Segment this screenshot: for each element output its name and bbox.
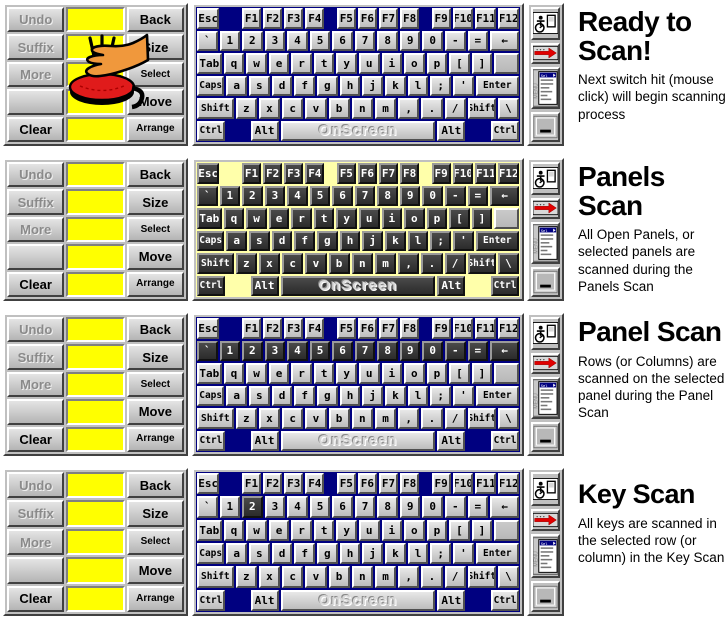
key-w[interactable]: w — [246, 520, 267, 541]
key-j[interactable]: j — [362, 543, 383, 564]
key-onscreen[interactable]: OnScreen — [281, 590, 436, 611]
control-button-undo[interactable]: Undo — [7, 317, 64, 342]
control-button-size[interactable]: Size — [127, 500, 184, 526]
key-l[interactable]: l — [408, 231, 429, 252]
key-f1[interactable]: F1 — [242, 473, 261, 494]
key-p[interactable]: p — [427, 520, 448, 541]
key-h[interactable]: h — [340, 76, 361, 97]
key-alt[interactable]: Alt — [437, 590, 465, 611]
control-button-move[interactable]: Move — [127, 89, 184, 114]
key-f7[interactable]: F7 — [379, 8, 398, 29]
key-f4[interactable]: F4 — [305, 318, 324, 339]
key-shift[interactable]: Shift — [197, 408, 234, 429]
key-backspace[interactable]: ← — [490, 186, 519, 207]
key-1[interactable]: 1 — [220, 31, 241, 52]
key-u[interactable]: u — [359, 53, 380, 74]
key-8[interactable]: 8 — [377, 341, 398, 362]
control-button-select[interactable]: Select — [127, 217, 184, 242]
control-button-size[interactable]: Size — [127, 34, 184, 59]
key-.[interactable]: . — [421, 408, 442, 429]
key-q[interactable]: q — [224, 363, 245, 384]
key-;[interactable]: ; — [430, 386, 451, 407]
key-a[interactable]: a — [226, 543, 247, 564]
key-`[interactable]: ` — [197, 31, 218, 52]
key-1[interactable]: 1 — [220, 186, 241, 207]
key-x[interactable]: x — [259, 253, 280, 274]
key--[interactable]: - — [445, 341, 466, 362]
key-s[interactable]: s — [249, 231, 270, 252]
key-l[interactable]: l — [408, 386, 429, 407]
key-f9[interactable]: F9 — [432, 318, 451, 339]
key-i[interactable]: i — [382, 208, 403, 229]
key-4[interactable]: 4 — [287, 341, 308, 362]
key-y[interactable]: y — [336, 208, 357, 229]
key-b[interactable]: b — [329, 566, 350, 587]
key-0[interactable]: 0 — [422, 186, 443, 207]
text-cell-2[interactable] — [66, 62, 124, 87]
key-esc[interactable]: Esc — [197, 163, 219, 184]
key-f8[interactable]: F8 — [400, 163, 419, 184]
key-j[interactable]: j — [362, 231, 383, 252]
key-k[interactable]: k — [385, 543, 406, 564]
key-ctrl[interactable]: Ctrl — [491, 276, 519, 297]
control-button-move[interactable]: Move — [127, 557, 184, 583]
key-shift[interactable]: Shift — [468, 408, 496, 429]
key-r[interactable]: r — [291, 520, 312, 541]
key-'[interactable]: ' — [453, 543, 474, 564]
key-f3[interactable]: F3 — [284, 473, 303, 494]
key-f2[interactable]: F2 — [263, 163, 282, 184]
key-t[interactable]: t — [314, 520, 335, 541]
key-.[interactable]: . — [421, 98, 442, 119]
key-'[interactable]: ' — [453, 231, 474, 252]
text-cell-1[interactable] — [66, 500, 124, 526]
key-f9[interactable]: F9 — [432, 473, 451, 494]
key-k[interactable]: k — [385, 231, 406, 252]
key-g[interactable]: g — [317, 76, 338, 97]
key-ctrl[interactable]: Ctrl — [491, 121, 519, 142]
key-9[interactable]: 9 — [400, 186, 421, 207]
key-e[interactable]: e — [269, 520, 290, 541]
key-f3[interactable]: F3 — [284, 8, 303, 29]
control-button-move[interactable]: Move — [127, 399, 184, 424]
key-,[interactable]: , — [398, 253, 419, 274]
key-f5[interactable]: F5 — [337, 8, 356, 29]
key-z[interactable]: z — [236, 253, 257, 274]
text-cell-0[interactable] — [66, 317, 124, 342]
control-button-more[interactable]: More — [7, 372, 64, 397]
icon-button-red-arrow[interactable] — [531, 509, 560, 531]
key-onscreen[interactable]: OnScreen — [281, 276, 436, 297]
icon-button-menu-list[interactable]: Sel MENU — [531, 534, 560, 578]
key-q[interactable]: q — [224, 208, 245, 229]
key-b[interactable]: b — [329, 408, 350, 429]
key-3[interactable]: 3 — [265, 186, 286, 207]
text-cell-2[interactable] — [66, 217, 124, 242]
key-'[interactable]: ' — [453, 386, 474, 407]
key-b[interactable]: b — [329, 253, 350, 274]
key-f8[interactable]: F8 — [400, 473, 419, 494]
icon-button-red-arrow[interactable] — [531, 198, 560, 219]
text-cell-3[interactable] — [66, 244, 124, 269]
key-blank[interactable] — [494, 363, 519, 384]
key-0[interactable]: 0 — [422, 341, 443, 362]
key-f1[interactable]: F1 — [242, 318, 261, 339]
key-ctrl[interactable]: Ctrl — [197, 276, 225, 297]
key-ctrl[interactable]: Ctrl — [197, 590, 225, 611]
key-backspace[interactable]: ← — [490, 31, 519, 52]
key-enter[interactable]: Enter — [476, 231, 519, 252]
key-shift[interactable]: Shift — [197, 253, 234, 274]
key-y[interactable]: y — [336, 520, 357, 541]
control-button-select[interactable]: Select — [127, 529, 184, 555]
icon-button-menu-list[interactable]: Sel MENU — [531, 222, 560, 264]
key-backslash[interactable]: \ — [498, 566, 519, 587]
control-button-back[interactable]: Back — [127, 7, 184, 32]
control-button-blank-3[interactable] — [7, 557, 64, 583]
control-button-undo[interactable]: Undo — [7, 472, 64, 498]
key-onscreen[interactable]: OnScreen — [281, 431, 436, 452]
text-cell-0[interactable] — [66, 7, 124, 32]
text-cell-3[interactable] — [66, 89, 124, 114]
key-x[interactable]: x — [259, 408, 280, 429]
key-v[interactable]: v — [305, 98, 326, 119]
key-g[interactable]: g — [317, 386, 338, 407]
key-a[interactable]: a — [226, 231, 247, 252]
key-l[interactable]: l — [408, 76, 429, 97]
key-/[interactable]: / — [445, 253, 466, 274]
key-tab[interactable]: Tab — [197, 208, 222, 229]
key-alt[interactable]: Alt — [251, 431, 279, 452]
key-9[interactable]: 9 — [400, 341, 421, 362]
control-button-arrange[interactable]: Arrange — [127, 272, 184, 297]
key-/[interactable]: / — [445, 98, 466, 119]
key-9[interactable]: 9 — [400, 31, 421, 52]
key-6[interactable]: 6 — [332, 496, 353, 517]
key-n[interactable]: n — [352, 98, 373, 119]
key-y[interactable]: y — [336, 53, 357, 74]
control-button-size[interactable]: Size — [127, 189, 184, 214]
key-f11[interactable]: F11 — [475, 318, 496, 339]
key-f12[interactable]: F12 — [498, 163, 519, 184]
key-5[interactable]: 5 — [310, 341, 331, 362]
key-f10[interactable]: F10 — [453, 473, 474, 494]
key-blank[interactable] — [494, 520, 519, 541]
key-c[interactable]: c — [282, 253, 303, 274]
icon-button-minimize[interactable] — [531, 112, 560, 142]
icon-button-minimize[interactable] — [531, 581, 560, 612]
key-0[interactable]: 0 — [422, 31, 443, 52]
key-a[interactable]: a — [226, 76, 247, 97]
key-f7[interactable]: F7 — [379, 473, 398, 494]
key-ctrl[interactable]: Ctrl — [197, 431, 225, 452]
text-cell-0[interactable] — [66, 472, 124, 498]
key-2[interactable]: 2 — [242, 31, 263, 52]
key-v[interactable]: v — [305, 408, 326, 429]
key-,[interactable]: , — [398, 98, 419, 119]
key-w[interactable]: w — [246, 208, 267, 229]
key-,[interactable]: , — [398, 408, 419, 429]
key-2[interactable]: 2 — [242, 186, 263, 207]
key-;[interactable]: ; — [430, 231, 451, 252]
icon-button-menu-list[interactable]: Sel MENU — [531, 67, 560, 109]
key-backspace[interactable]: ← — [490, 341, 519, 362]
key-f9[interactable]: F9 — [432, 163, 451, 184]
key-alt[interactable]: Alt — [251, 276, 279, 297]
key-d[interactable]: d — [272, 231, 293, 252]
icon-button-accessibility[interactable] — [531, 7, 560, 40]
key-5[interactable]: 5 — [310, 496, 331, 517]
key-tab[interactable]: Tab — [197, 363, 222, 384]
key-w[interactable]: w — [246, 363, 267, 384]
key-r[interactable]: r — [291, 363, 312, 384]
key-shift[interactable]: Shift — [197, 98, 234, 119]
control-button-size[interactable]: Size — [127, 344, 184, 369]
key-z[interactable]: z — [236, 408, 257, 429]
text-cell-1[interactable] — [66, 189, 124, 214]
key-d[interactable]: d — [272, 386, 293, 407]
key-7[interactable]: 7 — [355, 341, 376, 362]
key-][interactable]: ] — [472, 208, 493, 229]
text-cell-3[interactable] — [66, 557, 124, 583]
key-k[interactable]: k — [385, 76, 406, 97]
key-f10[interactable]: F10 — [453, 8, 474, 29]
key-0[interactable]: 0 — [422, 496, 443, 517]
key-2[interactable]: 2 — [242, 341, 263, 362]
key-shift[interactable]: Shift — [197, 566, 234, 587]
key-backslash[interactable]: \ — [498, 408, 519, 429]
key-[[interactable]: [ — [449, 363, 470, 384]
control-button-arrange[interactable]: Arrange — [127, 427, 184, 452]
key-f4[interactable]: F4 — [305, 8, 324, 29]
key-f11[interactable]: F11 — [475, 473, 496, 494]
key-d[interactable]: d — [272, 76, 293, 97]
key-=[interactable]: = — [468, 186, 489, 207]
key-f5[interactable]: F5 — [337, 473, 356, 494]
key-1[interactable]: 1 — [220, 341, 241, 362]
key-t[interactable]: t — [314, 363, 335, 384]
control-button-clear[interactable]: Clear — [7, 427, 64, 452]
key-i[interactable]: i — [382, 363, 403, 384]
key-blank[interactable] — [494, 53, 519, 74]
key-f1[interactable]: F1 — [242, 8, 261, 29]
key-b[interactable]: b — [329, 98, 350, 119]
key-caps[interactable]: Caps — [197, 231, 224, 252]
key-f6[interactable]: F6 — [358, 8, 377, 29]
key-l[interactable]: l — [408, 543, 429, 564]
key-esc[interactable]: Esc — [197, 318, 219, 339]
key-ctrl[interactable]: Ctrl — [491, 590, 519, 611]
control-button-suffix[interactable]: Suffix — [7, 344, 64, 369]
key-blank[interactable] — [494, 208, 519, 229]
icon-button-minimize[interactable] — [531, 267, 560, 297]
key--[interactable]: - — [445, 31, 466, 52]
key--[interactable]: - — [445, 496, 466, 517]
key-f10[interactable]: F10 — [453, 163, 474, 184]
key-v[interactable]: v — [305, 566, 326, 587]
key-s[interactable]: s — [249, 543, 270, 564]
key-o[interactable]: o — [404, 520, 425, 541]
text-cell-2[interactable] — [66, 372, 124, 397]
key-tab[interactable]: Tab — [197, 520, 222, 541]
key-esc[interactable]: Esc — [197, 473, 219, 494]
key-`[interactable]: ` — [197, 341, 218, 362]
key-.[interactable]: . — [421, 566, 442, 587]
key-7[interactable]: 7 — [355, 496, 376, 517]
key-alt[interactable]: Alt — [437, 121, 465, 142]
key-shift[interactable]: Shift — [468, 253, 496, 274]
text-cell-4[interactable] — [66, 427, 124, 452]
key-8[interactable]: 8 — [377, 31, 398, 52]
key-4[interactable]: 4 — [287, 496, 308, 517]
key-e[interactable]: e — [269, 363, 290, 384]
key-h[interactable]: h — [340, 543, 361, 564]
control-button-blank-3[interactable] — [7, 244, 64, 269]
key-ctrl[interactable]: Ctrl — [197, 121, 225, 142]
key-2[interactable]: 2 — [242, 496, 263, 517]
text-cell-4[interactable] — [66, 272, 124, 297]
key-shift[interactable]: Shift — [468, 566, 496, 587]
key-o[interactable]: o — [404, 53, 425, 74]
key-u[interactable]: u — [359, 363, 380, 384]
key-h[interactable]: h — [340, 386, 361, 407]
key-n[interactable]: n — [352, 253, 373, 274]
control-button-blank-3[interactable] — [7, 89, 64, 114]
key-m[interactable]: m — [375, 566, 396, 587]
key-f11[interactable]: F11 — [475, 163, 496, 184]
key-f[interactable]: f — [294, 386, 315, 407]
key-onscreen[interactable]: OnScreen — [281, 121, 436, 142]
key-f10[interactable]: F10 — [453, 318, 474, 339]
key-f8[interactable]: F8 — [400, 8, 419, 29]
key-z[interactable]: z — [236, 566, 257, 587]
key-'[interactable]: ' — [453, 76, 474, 97]
key-e[interactable]: e — [269, 208, 290, 229]
icon-button-accessibility[interactable] — [531, 317, 560, 350]
key-f[interactable]: f — [294, 543, 315, 564]
key-7[interactable]: 7 — [355, 186, 376, 207]
key-3[interactable]: 3 — [265, 31, 286, 52]
key-;[interactable]: ; — [430, 543, 451, 564]
key-a[interactable]: a — [226, 386, 247, 407]
key-6[interactable]: 6 — [332, 186, 353, 207]
key-c[interactable]: c — [282, 566, 303, 587]
key-d[interactable]: d — [272, 543, 293, 564]
key-z[interactable]: z — [236, 98, 257, 119]
key-7[interactable]: 7 — [355, 31, 376, 52]
key-=[interactable]: = — [468, 496, 489, 517]
control-button-select[interactable]: Select — [127, 372, 184, 397]
control-button-move[interactable]: Move — [127, 244, 184, 269]
key-i[interactable]: i — [382, 53, 403, 74]
key-.[interactable]: . — [421, 253, 442, 274]
control-button-clear[interactable]: Clear — [7, 272, 64, 297]
key-f7[interactable]: F7 — [379, 163, 398, 184]
key-caps[interactable]: Caps — [197, 76, 224, 97]
key-q[interactable]: q — [224, 520, 245, 541]
key-p[interactable]: p — [427, 53, 448, 74]
key-backslash[interactable]: \ — [498, 98, 519, 119]
key-4[interactable]: 4 — [287, 31, 308, 52]
key-ctrl[interactable]: Ctrl — [491, 431, 519, 452]
key-j[interactable]: j — [362, 76, 383, 97]
key-][interactable]: ] — [472, 363, 493, 384]
key-/[interactable]: / — [445, 408, 466, 429]
key-f7[interactable]: F7 — [379, 318, 398, 339]
key-q[interactable]: q — [224, 53, 245, 74]
key-,[interactable]: , — [398, 566, 419, 587]
key-f3[interactable]: F3 — [284, 163, 303, 184]
control-button-more[interactable]: More — [7, 217, 64, 242]
text-cell-1[interactable] — [66, 344, 124, 369]
text-cell-4[interactable] — [66, 117, 124, 142]
key-n[interactable]: n — [352, 566, 373, 587]
text-cell-4[interactable] — [66, 586, 124, 612]
key-f[interactable]: f — [294, 231, 315, 252]
key-c[interactable]: c — [282, 98, 303, 119]
key-m[interactable]: m — [375, 408, 396, 429]
key-f12[interactable]: F12 — [498, 473, 519, 494]
control-button-undo[interactable]: Undo — [7, 162, 64, 187]
control-button-clear[interactable]: Clear — [7, 586, 64, 612]
control-button-suffix[interactable]: Suffix — [7, 189, 64, 214]
key-x[interactable]: x — [259, 566, 280, 587]
key-p[interactable]: p — [427, 363, 448, 384]
key-][interactable]: ] — [472, 53, 493, 74]
text-cell-1[interactable] — [66, 34, 124, 59]
key-x[interactable]: x — [259, 98, 280, 119]
key-c[interactable]: c — [282, 408, 303, 429]
key-j[interactable]: j — [362, 386, 383, 407]
key-enter[interactable]: Enter — [476, 543, 519, 564]
key-tab[interactable]: Tab — [197, 53, 222, 74]
key-u[interactable]: u — [359, 520, 380, 541]
key-8[interactable]: 8 — [377, 186, 398, 207]
control-button-blank-3[interactable] — [7, 399, 64, 424]
key-t[interactable]: t — [314, 53, 335, 74]
key-alt[interactable]: Alt — [437, 431, 465, 452]
control-button-clear[interactable]: Clear — [7, 117, 64, 142]
key-h[interactable]: h — [340, 231, 361, 252]
icon-button-accessibility[interactable] — [531, 472, 560, 506]
key-3[interactable]: 3 — [265, 496, 286, 517]
key-f4[interactable]: F4 — [305, 163, 324, 184]
key-y[interactable]: y — [336, 363, 357, 384]
key-n[interactable]: n — [352, 408, 373, 429]
key-f9[interactable]: F9 — [432, 8, 451, 29]
key-6[interactable]: 6 — [332, 341, 353, 362]
text-cell-3[interactable] — [66, 399, 124, 424]
key-f8[interactable]: F8 — [400, 318, 419, 339]
control-button-more[interactable]: More — [7, 62, 64, 87]
control-button-undo[interactable]: Undo — [7, 7, 64, 32]
key-f2[interactable]: F2 — [263, 8, 282, 29]
key-f12[interactable]: F12 — [498, 8, 519, 29]
key-s[interactable]: s — [249, 386, 270, 407]
text-cell-2[interactable] — [66, 529, 124, 555]
key-e[interactable]: e — [269, 53, 290, 74]
key-=[interactable]: = — [468, 341, 489, 362]
icon-button-red-arrow[interactable] — [531, 43, 560, 64]
key-alt[interactable]: Alt — [251, 121, 279, 142]
icon-button-menu-list[interactable]: Sel MENU — [531, 377, 560, 419]
control-button-arrange[interactable]: Arrange — [127, 117, 184, 142]
key-enter[interactable]: Enter — [476, 386, 519, 407]
key-w[interactable]: w — [246, 53, 267, 74]
key-f5[interactable]: F5 — [337, 318, 356, 339]
key-3[interactable]: 3 — [265, 341, 286, 362]
icon-button-minimize[interactable] — [531, 422, 560, 452]
